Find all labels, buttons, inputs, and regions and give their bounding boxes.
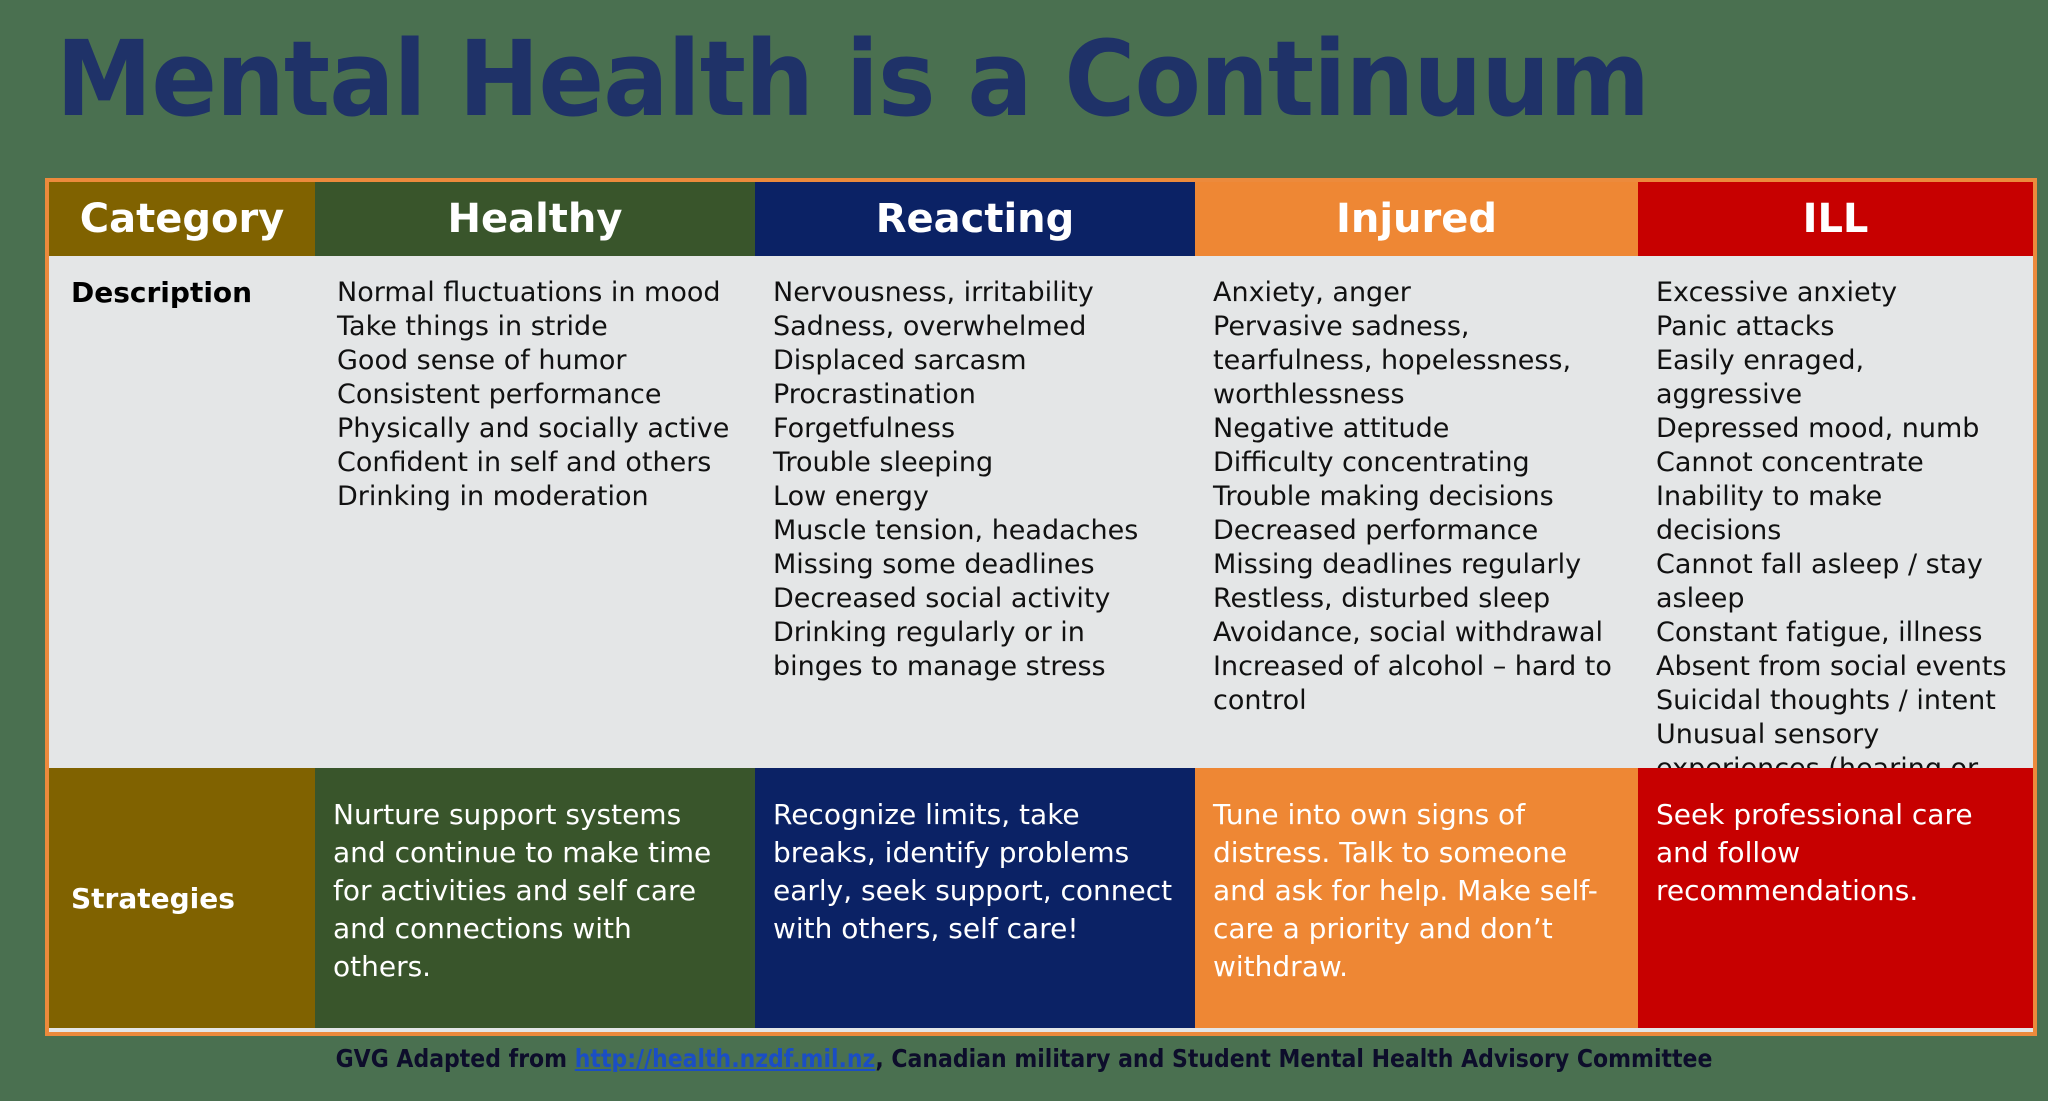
row-label-strategies: Strategies (49, 768, 315, 1028)
attribution-suffix: , Canadian military and Student Mental H… (875, 1044, 1712, 1073)
description-cell-injured: Anxiety, anger Pervasive sadness, tearfu… (1195, 256, 1638, 768)
source-link[interactable]: http://health.nzdf.mil.nz (575, 1044, 876, 1073)
table-grid: Category Healthy Reacting Injured ILL De… (49, 182, 2033, 1032)
continuum-table: Category Healthy Reacting Injured ILL De… (45, 178, 2037, 1036)
table-header-injured: Injured (1195, 182, 1638, 256)
table-header-category: Category (49, 182, 315, 256)
description-cell-reacting: Nervousness, irritability Sadness, overw… (755, 256, 1195, 768)
strategies-cell-ill: Seek professional care and follow recomm… (1638, 768, 2033, 1028)
strategies-cell-healthy: Nurture support systems and continue to … (315, 768, 755, 1028)
row-label-description: Description (49, 256, 315, 768)
description-cell-ill: Excessive anxiety Panic attacks Easily e… (1638, 256, 2033, 768)
description-cell-healthy: Normal fluctuations in mood Take things … (315, 256, 755, 768)
infographic-page: Mental Health is a Continuum Category He… (0, 0, 2048, 1101)
page-title: Mental Health is a Continuum (56, 24, 1451, 134)
table-header-healthy: Healthy (315, 182, 755, 256)
table-header-reacting: Reacting (755, 182, 1195, 256)
table-header-ill: ILL (1638, 182, 2033, 256)
attribution-prefix: GVG Adapted from (336, 1044, 575, 1073)
strategies-cell-injured: Tune into own signs of distress. Talk to… (1195, 768, 1638, 1028)
strategies-cell-reacting: Recognize limits, take breaks, identify … (755, 768, 1195, 1028)
source-attribution: GVG Adapted from http://health.nzdf.mil.… (123, 1044, 1925, 1074)
